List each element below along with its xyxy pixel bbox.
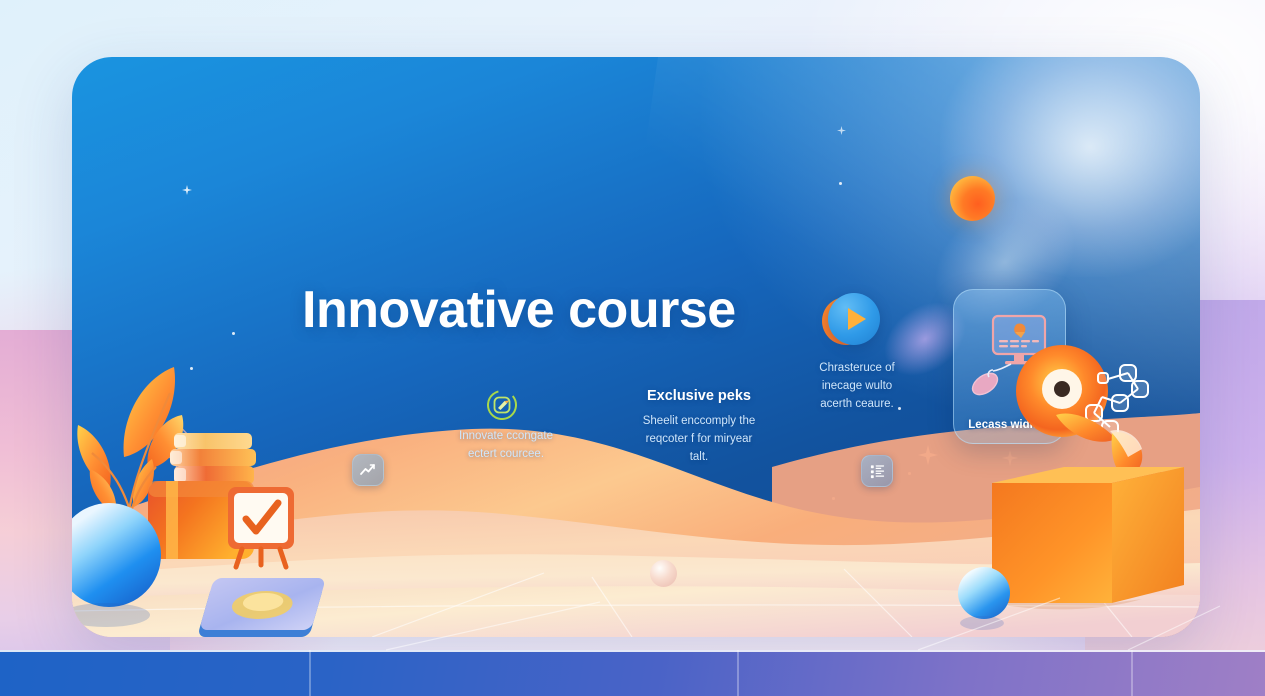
feature-left-body: Innovate ccongate ectert courcee. [430, 428, 582, 464]
play-triangle [848, 308, 866, 330]
play-circle [828, 293, 880, 345]
glass-feature-card[interactable]: Lecass widhitg [953, 289, 1066, 444]
feature-left: Innovate ccongate ectert courcee. [430, 419, 582, 464]
star-dot [232, 332, 235, 335]
play-icon[interactable] [822, 293, 880, 351]
star-dot [839, 182, 842, 185]
glass-card-label: Lecass widhitg [954, 419, 1065, 431]
orange-sun-circle [950, 176, 995, 221]
feature-right: Chrasteruce of inecage wulto acerth ceau… [783, 351, 931, 413]
pen-circle-icon [485, 388, 519, 422]
feature-center: Exclusive peks Sheelit enccomply the req… [623, 388, 775, 466]
lens-flare-primary [940, 57, 1200, 277]
sparkle-star [182, 182, 192, 200]
hero-illustration-canvas: Innovative course Innovate ccongate ecte… [0, 0, 1265, 696]
monitor-mouse-icon [967, 308, 1053, 409]
list-grid-icon[interactable] [861, 455, 893, 487]
feature-center-title: Exclusive peks [623, 388, 775, 404]
bottom-floor-band [0, 650, 1265, 696]
main-blue-panel: Innovative course Innovate ccongate ecte… [72, 57, 1200, 637]
feature-center-body: Sheelit enccomply the reqcoter f for mir… [623, 413, 775, 466]
page-title: Innovative course [302, 280, 736, 340]
feature-right-body: Chrasteruce of inecage wulto acerth ceau… [783, 360, 931, 413]
sparkle-star [837, 122, 846, 140]
trend-chart-icon[interactable] [352, 454, 384, 486]
small-sphere-dune [650, 560, 677, 587]
